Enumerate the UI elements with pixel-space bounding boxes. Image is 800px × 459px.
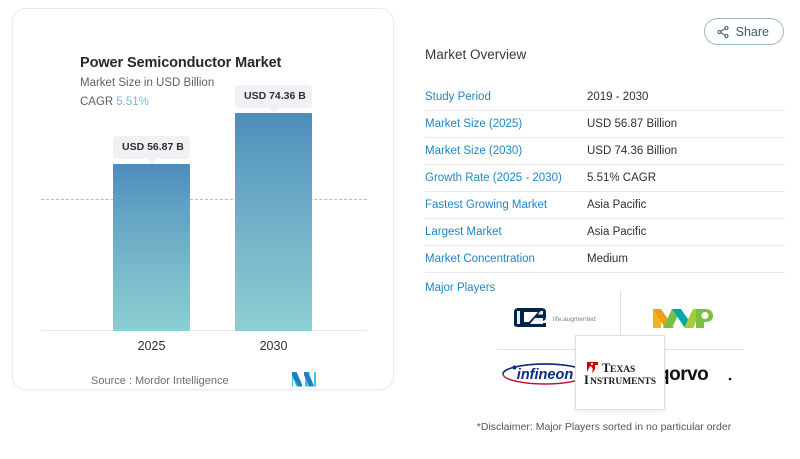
market-snapshot-widget: Power Semiconductor Market Market Size i…	[0, 0, 800, 459]
chart-title: Power Semiconductor Market	[80, 55, 281, 71]
row-key: Market Concentration	[425, 253, 587, 265]
reference-dashed-line	[41, 199, 367, 200]
chart-card: Power Semiconductor Market Market Size i…	[12, 8, 394, 390]
logo-cell-texas-instruments: T EXAS I NSTRUMENTS TEXAS INSTRUMENTS	[575, 335, 665, 410]
share-button-label: Share	[736, 25, 769, 39]
row-key: Growth Rate (2025 - 2030)	[425, 172, 587, 184]
svg-text:life.augmented: life.augmented	[553, 316, 596, 323]
share-button[interactable]: Share	[704, 18, 784, 45]
bar-label-2030: USD 74.36 B	[235, 85, 312, 108]
cagr-row: CAGR5.51%	[80, 96, 149, 108]
row-key: Market Size (2025)	[425, 118, 587, 130]
table-row: Growth Rate (2025 - 2030) 5.51% CAGR	[425, 165, 785, 192]
svg-text:infineon: infineon	[517, 367, 574, 383]
market-overview-title: Market Overview	[425, 47, 526, 62]
row-value: 2019 - 2030	[587, 91, 648, 103]
row-value: Asia Pacific	[587, 199, 646, 211]
svg-text:qorvo: qorvo	[658, 364, 708, 385]
chart-subtitle: Market Size in USD Billion	[80, 77, 214, 89]
disclaimer-text: *Disclaimer: Major Players sorted in no …	[423, 421, 785, 433]
table-row: Fastest Growing Market Asia Pacific	[425, 192, 785, 219]
table-row: Market Size (2025) USD 56.87 Billion	[425, 111, 785, 138]
market-overview-table: Study Period 2019 - 2030 Market Size (20…	[425, 84, 785, 303]
bar-label-2025: USD 56.87 B	[113, 136, 190, 159]
row-key: Largest Market	[425, 226, 587, 238]
table-row: Market Concentration Medium	[425, 246, 785, 273]
row-key: Study Period	[425, 91, 587, 103]
row-value: USD 56.87 Billion	[587, 118, 677, 130]
mordor-intelligence-logo	[291, 371, 317, 387]
qorvo-logo: qorvo	[657, 362, 733, 386]
x-tick-2025: 2025	[113, 339, 190, 353]
svg-text:EXAS: EXAS	[610, 365, 635, 375]
major-players-logo-grid: life.augmented ST NXP infineon	[497, 291, 744, 402]
grid-divider-vertical	[620, 291, 621, 335]
bar-2025[interactable]	[113, 164, 190, 331]
texas-instruments-logo: T EXAS I NSTRUMENTS	[581, 358, 659, 388]
cagr-label: CAGR	[80, 96, 113, 108]
x-tick-2030: 2030	[235, 339, 312, 353]
bar-2030[interactable]	[235, 113, 312, 331]
source-text: Source : Mordor Intelligence	[91, 375, 229, 387]
row-value: USD 74.36 Billion	[587, 145, 677, 157]
bar-chart-plot: USD 56.87 B 2025 USD 74.36 B 2030	[13, 119, 395, 349]
table-row: Market Size (2030) USD 74.36 Billion	[425, 138, 785, 165]
share-nodes-icon	[716, 25, 730, 39]
row-key: Market Size (2030)	[425, 145, 587, 157]
nxp-logo	[652, 305, 714, 331]
svg-text:I: I	[584, 373, 589, 387]
table-row: Largest Market Asia Pacific	[425, 219, 785, 246]
x-axis-line	[41, 330, 367, 331]
st-microelectronics-logo: life.augmented	[510, 305, 608, 331]
cagr-value: 5.51%	[116, 96, 149, 108]
svg-text:NSTRUMENTS: NSTRUMENTS	[590, 377, 656, 387]
row-key: Fastest Growing Market	[425, 199, 587, 211]
row-value: Asia Pacific	[587, 226, 646, 238]
row-value: 5.51% CAGR	[587, 172, 656, 184]
table-row: Study Period 2019 - 2030	[425, 84, 785, 111]
row-value: Medium	[587, 253, 628, 265]
